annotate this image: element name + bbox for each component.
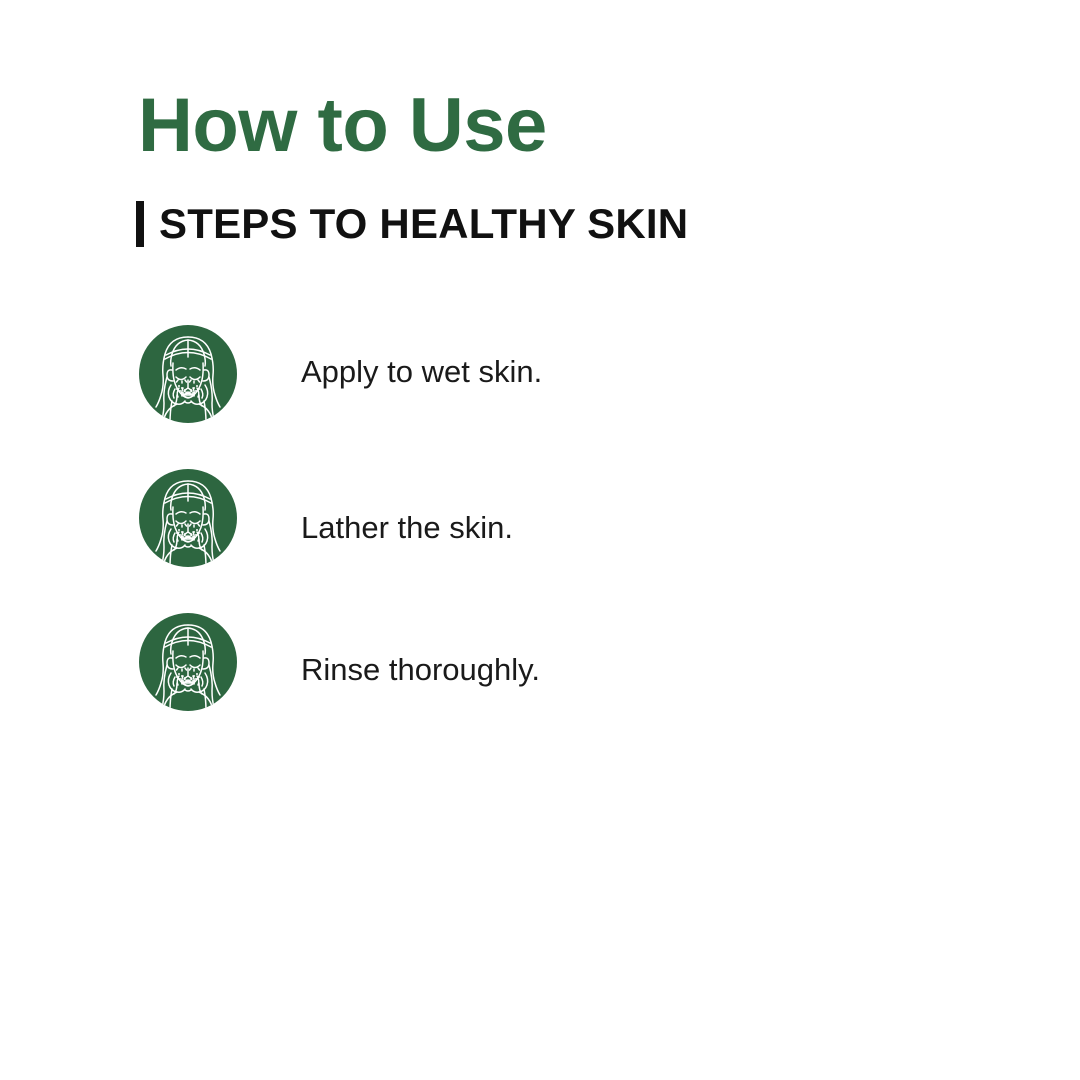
list-item-label: Apply to wet skin. [301, 353, 542, 391]
how-to-use-card: How to Use STEPS TO HEALTHY SKIN [0, 0, 1080, 1080]
subtitle-row: STEPS TO HEALTHY SKIN [136, 196, 688, 252]
face-massage-icon [139, 469, 237, 567]
list-item-label: Lather the skin. [301, 509, 513, 547]
subtitle: STEPS TO HEALTHY SKIN [159, 201, 688, 247]
face-massage-icon [139, 613, 237, 711]
list-item: Apply to wet skin. [139, 325, 939, 423]
list-item-label: Rinse thoroughly. [301, 651, 540, 689]
list-item: Lather the skin. [139, 469, 939, 567]
page-title: How to Use [138, 84, 547, 168]
subtitle-accent-bar [136, 201, 144, 247]
face-massage-icon [139, 325, 237, 423]
list-item: Rinse thoroughly. [139, 613, 939, 711]
